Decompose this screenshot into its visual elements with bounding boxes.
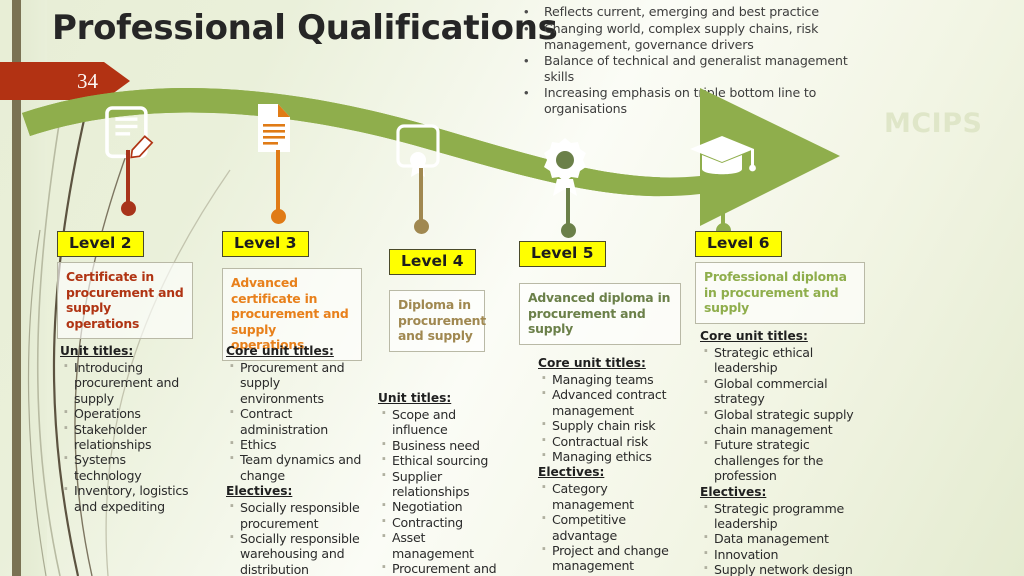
unit-items: Strategic ethical leadershipGlobal comme… [700,345,858,484]
list-item: Advanced contract management [538,387,688,418]
connector-stem-level-6 [721,186,725,230]
list-item: Socially responsible warehousing and dis… [226,531,366,576]
qualification-box-level-4: Diploma in procurement and supply [389,290,485,352]
key-point-item: •Reflects current, emerging and best pra… [518,4,878,20]
list-item: Future strategic challenges for the prof… [700,437,858,483]
unit-list-level-5: Core unit titles:Managing teamsAdvanced … [538,355,688,576]
list-item: Strategic programme leadership [700,501,858,532]
list-item: Strategic ethical leadership [700,345,858,376]
key-point-text: Changing world, complex supply chains, r… [544,21,878,52]
bullet-marker-icon: • [518,21,544,52]
list-item: Scope and influence [378,407,502,438]
qualification-box-level-2: Certificate in procurement and supply op… [57,262,193,339]
list-item: Ethical sourcing [378,453,502,468]
unit-group-heading: Unit titles: [378,390,502,406]
connector-dot-level-3 [271,209,286,224]
connector-stem-level-5 [566,188,570,230]
unit-group-heading: Electives: [538,464,688,480]
unit-items: Managing teamsAdvanced contract manageme… [538,372,688,464]
connector-dot-level-4 [414,219,429,234]
list-item: Data management [700,531,858,546]
unit-group-heading: Core unit titles: [226,343,366,359]
list-item: Team dynamics and change [226,452,366,483]
list-item: Managing ethics [538,449,688,464]
connector-stem-level-3 [276,150,280,216]
unit-list-level-2: Unit titles:Introducing procurement and … [60,343,190,514]
list-item: Contract administration [226,406,366,437]
connector-dot-level-5 [561,223,576,238]
level-badge-level-5[interactable]: Level 5 [519,241,606,267]
level-badge-level-4[interactable]: Level 4 [389,249,476,275]
list-item: Supply network design [700,562,858,576]
unit-items: Scope and influenceBusiness needEthical … [378,407,502,576]
list-item: Global commercial strategy [700,376,858,407]
list-item: Inventory, logistics and expediting [60,483,190,514]
unit-group-heading: Core unit titles: [538,355,688,371]
key-point-item: •Changing world, complex supply chains, … [518,21,878,52]
list-item: Systems technology [60,452,190,483]
page-title: Professional Qualifications [52,8,558,48]
level-badge-level-2[interactable]: Level 2 [57,231,144,257]
connector-dot-level-2 [121,201,136,216]
unit-group-heading: Electives: [700,484,858,500]
list-item: Negotiation [378,499,502,514]
list-item: Global strategic supply chain management [700,407,858,438]
list-item: Managing teams [538,372,688,387]
unit-items: Procurement and supply environmentsContr… [226,360,366,483]
list-item: Introducing procurement and supply [60,360,190,406]
list-item: Business need [378,438,502,453]
unit-list-level-3: Core unit titles:Procurement and supply … [226,343,366,576]
level-badge-level-6[interactable]: Level 6 [695,231,782,257]
list-item: Contracting [378,515,502,530]
list-item: Innovation [700,547,858,562]
list-item: Stakeholder relationships [60,422,190,453]
unit-items: Category managementCompetitive advantage… [538,481,688,576]
unit-list-level-4: Unit titles:Scope and influenceBusiness … [378,390,502,576]
qualification-box-level-6: Professional diploma in procurement and … [695,262,865,324]
unit-group-heading: Electives: [226,483,366,499]
unit-items: Socially responsible procurementSocially… [226,500,366,576]
slide-canvas: Professional Qualifications 34 •Reflects… [0,0,1024,576]
list-item: Procurement and supply environments [226,360,366,406]
list-item: Competitive advantage [538,512,688,543]
unit-group-heading: Core unit titles: [700,328,858,344]
list-item: Ethics [226,437,366,452]
unit-group-heading: Unit titles: [60,343,190,359]
connector-stem-level-4 [419,168,423,226]
list-item: Project and change management [538,543,688,574]
list-item: Socially responsible procurement [226,500,366,531]
connector-stem-level-2 [126,150,130,208]
unit-list-level-6: Core unit titles:Strategic ethical leade… [700,328,858,576]
list-item: Operations [60,406,190,421]
progression-arrow-ribbon [0,78,1024,248]
bullet-marker-icon: • [518,4,544,20]
level-badge-level-3[interactable]: Level 3 [222,231,309,257]
qualification-box-level-5: Advanced diploma in procurement and supp… [519,283,681,345]
list-item: Category management [538,481,688,512]
key-point-text: Reflects current, emerging and best prac… [544,4,819,20]
list-item: Supply chain risk [538,418,688,433]
list-item: Contractual risk [538,434,688,449]
list-item: Supplier relationships [378,469,502,500]
unit-items: Introducing procurement and supplyOperat… [60,360,190,514]
list-item: Asset management [378,530,502,561]
unit-items: Strategic programme leadershipData manag… [700,501,858,576]
list-item: Procurement and supply in practice [378,561,502,576]
